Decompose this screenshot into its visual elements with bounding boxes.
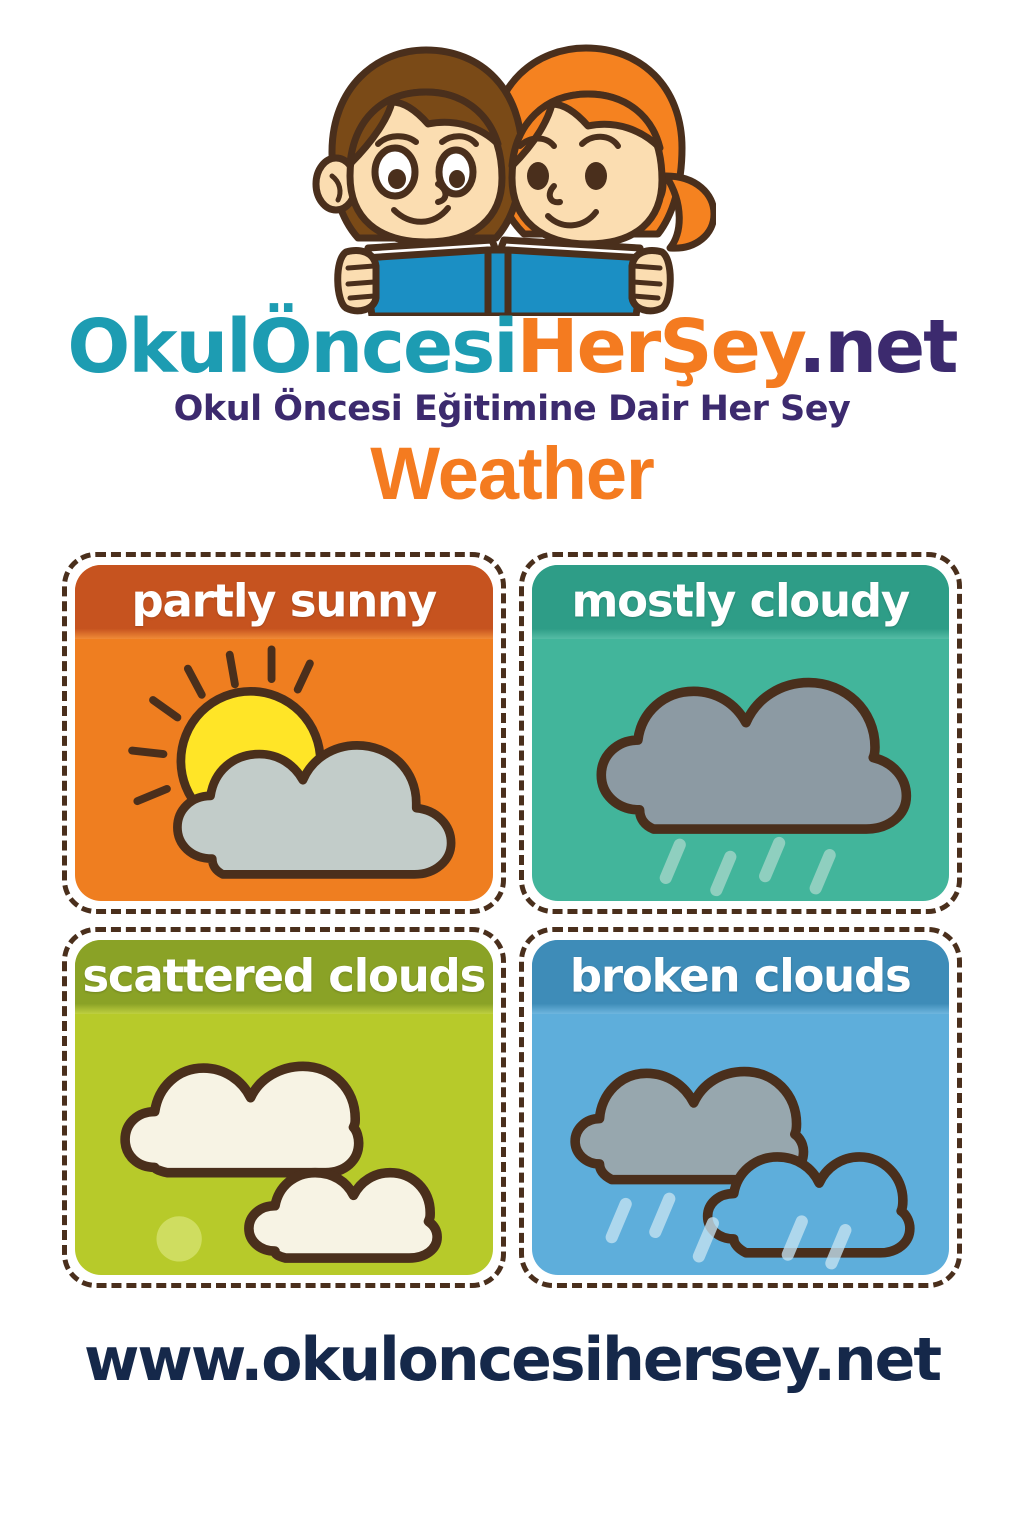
brand-subtitle: Okul Öncesi Eğitimine Dair Her Sey [0, 392, 1024, 427]
rain-streaks-icon [665, 843, 829, 890]
cloud-icon [601, 683, 906, 829]
card-header: broken clouds [532, 940, 950, 1014]
card-artwork-sun-behind-cloud [75, 639, 493, 901]
card-label: partly sunny [75, 579, 493, 624]
card-body: scattered clouds [75, 940, 493, 1276]
card-label: broken clouds [532, 953, 950, 998]
brand-part-hersey: HerŞey [517, 304, 799, 390]
card-scattered-clouds[interactable]: scattered clouds [62, 927, 506, 1289]
card-header: partly sunny [75, 565, 493, 639]
card-body: partly sunny [75, 565, 493, 901]
brand-title: OkulÖncesiHerŞey.net [0, 310, 1024, 384]
pale-dot-icon [156, 1216, 201, 1261]
cloud-icon-small [249, 1172, 437, 1257]
card-partly-sunny[interactable]: partly sunny [62, 552, 506, 914]
card-artwork-two-clouds-with-rain [532, 1014, 950, 1276]
page-title: Weather [0, 437, 1024, 511]
card-broken-clouds[interactable]: broken clouds [519, 927, 963, 1289]
card-artwork-cloud-with-rain [532, 639, 950, 901]
card-header: mostly cloudy [532, 565, 950, 639]
card-body: mostly cloudy [532, 565, 950, 901]
card-body: broken clouds [532, 940, 950, 1276]
footer-url[interactable]: www.okuloncesihersey.net [0, 1330, 1024, 1390]
card-header: scattered clouds [75, 940, 493, 1014]
card-label: mostly cloudy [532, 579, 950, 624]
card-label: scattered clouds [75, 953, 493, 998]
mascot-illustration [296, 36, 716, 316]
cloud-icon-large [125, 1066, 359, 1172]
brand-part-net: .net [798, 304, 956, 390]
card-artwork-two-white-clouds [75, 1014, 493, 1276]
weather-card-grid: partly sunny [62, 552, 962, 1288]
brand-part-okuloncesi: OkulÖncesi [67, 304, 516, 390]
brand-block: OkulÖncesiHerŞey.net Okul Öncesi Eğitimi… [0, 310, 1024, 511]
card-mostly-cloudy[interactable]: mostly cloudy [519, 552, 963, 914]
